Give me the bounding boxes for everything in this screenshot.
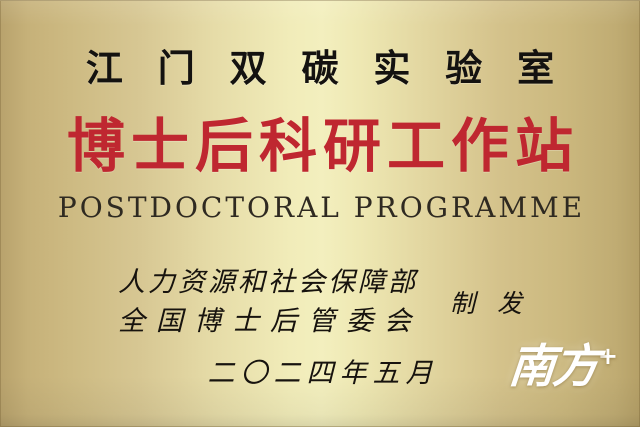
nanfang-plus-watermark: 南方 +: [509, 343, 618, 405]
plaque-main-title: 博士后科研工作站: [0, 117, 640, 175]
issuer-ministry-name: 人力资源和社会保障部: [118, 260, 418, 299]
watermark-text: 南方: [507, 343, 599, 389]
award-plaque: 江 门 双 碳 实 验 室 博士后科研工作站 POSTDOCTORAL PROG…: [0, 0, 640, 427]
issuer-suffix-label: 制 发: [450, 284, 529, 320]
issuer-block: 人力资源和社会保障部 全国博士后管委会 制 发: [0, 258, 640, 338]
plaque-english-subtitle: POSTDOCTORAL PROGRAMME: [0, 194, 640, 222]
issuer-committee-name: 全国博士后管委会: [118, 299, 422, 338]
watermark-plus-icon: +: [598, 344, 618, 368]
organization-name: 江 门 双 碳 实 验 室: [0, 50, 640, 87]
